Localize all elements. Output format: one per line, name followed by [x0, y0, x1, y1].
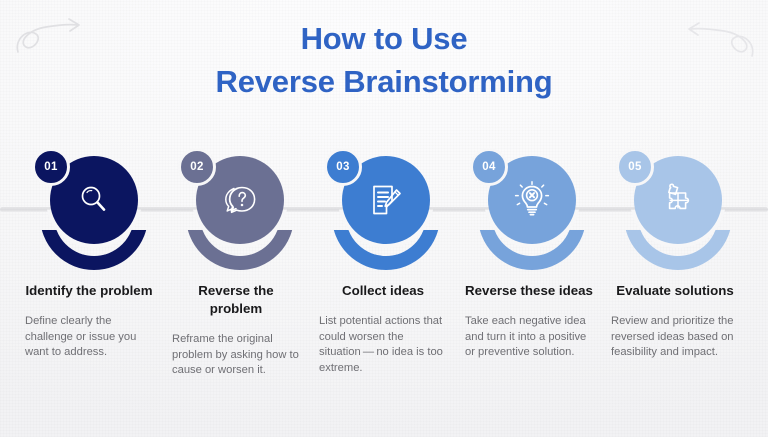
step-body-5: Review and prioritize the reversed ideas…	[611, 314, 739, 361]
title-line-2: Reverse Brainstorming	[0, 60, 768, 103]
step-caption-3: Collect ideas List potential actions tha…	[319, 282, 447, 376]
step-caption-1: Identify the problem Define clearly the …	[25, 282, 153, 361]
step-badge-3: 03	[324, 148, 362, 186]
title-line-1: How to Use	[0, 17, 768, 60]
steps-timeline: 01 02	[0, 148, 768, 268]
step-body-2: Reframe the original problem by asking h…	[172, 332, 300, 379]
step-number-3: 03	[336, 161, 349, 173]
step-heading-4: Reverse these ideas	[465, 282, 593, 300]
step-number-5: 05	[628, 161, 641, 173]
step-node-4[interactable]: 04	[470, 148, 582, 268]
step-body-4: Take each negative idea and turn it into…	[465, 314, 593, 361]
page-title: How to Use Reverse Brainstorming	[0, 17, 768, 103]
step-heading-1: Identify the problem	[25, 282, 153, 300]
step-body-3: List potential actions that could worsen…	[319, 314, 447, 376]
steps-captions: Identify the problem Define clearly the …	[0, 282, 768, 432]
step-number-2: 02	[190, 161, 203, 173]
step-caption-2: Reverse the problem Reframe the original…	[172, 282, 300, 379]
step-body-1: Define clearly the challenge or issue yo…	[25, 314, 153, 361]
step-number-4: 04	[482, 161, 495, 173]
step-heading-2: Reverse the problem	[172, 282, 300, 318]
step-node-5[interactable]: 05	[616, 148, 728, 268]
step-node-1[interactable]: 01	[32, 148, 144, 268]
step-heading-5: Evaluate solutions	[611, 282, 739, 300]
step-node-3[interactable]: 03	[324, 148, 436, 268]
step-caption-4: Reverse these ideas Take each negative i…	[465, 282, 593, 361]
step-badge-5: 05	[616, 148, 654, 186]
step-number-1: 01	[44, 161, 57, 173]
step-node-2[interactable]: 02	[178, 148, 290, 268]
step-badge-1: 01	[32, 148, 70, 186]
step-badge-2: 02	[178, 148, 216, 186]
step-caption-5: Evaluate solutions Review and prioritize…	[611, 282, 739, 361]
step-badge-4: 04	[470, 148, 508, 186]
step-heading-3: Collect ideas	[319, 282, 447, 300]
